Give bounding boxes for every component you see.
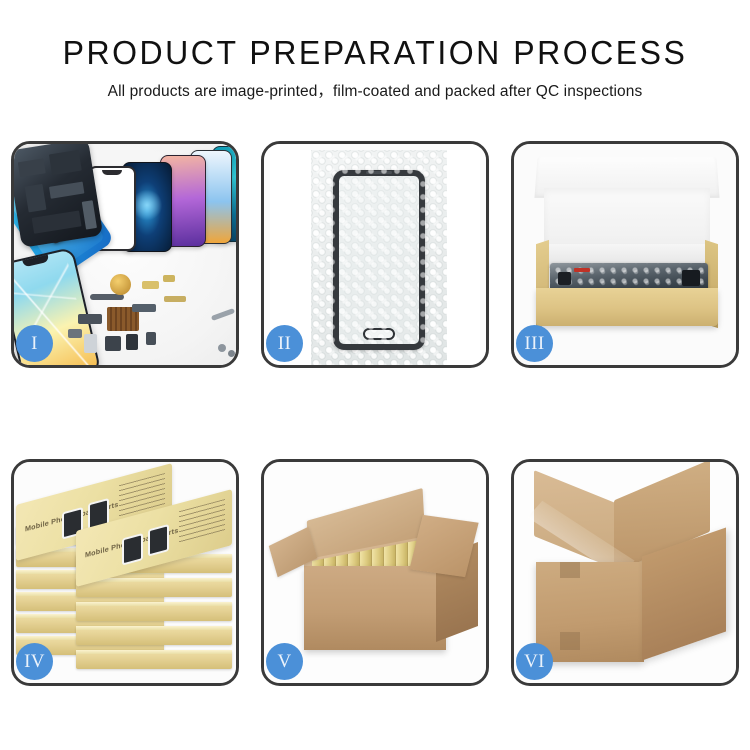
process-step-panel-1: I <box>11 141 239 368</box>
box-product-photo <box>122 533 143 566</box>
page-subtitle: All products are image-printed，film-coat… <box>0 82 750 102</box>
page-title: PRODUCT PREPARATION PROCESS <box>11 34 739 72</box>
button-flex-part <box>78 314 102 324</box>
process-step-panel-2: II <box>261 141 489 368</box>
carton-seam-lower <box>560 632 580 650</box>
box-front-panel <box>536 288 718 326</box>
ribbon-cable-part <box>132 304 156 312</box>
step-badge-4: IV <box>16 643 53 680</box>
speaker-part <box>105 336 121 351</box>
screw-part-b <box>228 350 235 357</box>
motherboard-part <box>14 144 103 248</box>
bracket-part <box>68 329 82 338</box>
camera-module-part <box>126 334 138 350</box>
carton-seam-upper <box>560 562 580 578</box>
step-badge-6: VI <box>516 643 553 680</box>
carton-front-face <box>536 562 644 662</box>
step-badge-5: V <box>266 643 303 680</box>
retail-box-edge <box>76 602 232 621</box>
process-step-panel-5: V <box>261 459 489 686</box>
sim-tray-part <box>84 334 97 353</box>
header: PRODUCT PREPARATION PROCESS All products… <box>0 0 750 102</box>
retail-box-edge <box>76 626 232 645</box>
gold-contact-part <box>164 296 186 302</box>
step-badge-3: III <box>516 325 553 362</box>
phone-glass-screen <box>333 170 425 350</box>
vibrator-part <box>146 332 156 345</box>
gold-coil-part <box>110 274 131 295</box>
box-spec-lines <box>179 499 225 543</box>
screw-part-a <box>218 344 226 352</box>
carton-front-panel <box>304 566 446 650</box>
step-badge-1: I <box>16 325 53 362</box>
process-steps-grid: I II <box>11 141 739 686</box>
small-chip-part <box>163 275 175 282</box>
process-step-panel-3: III <box>511 141 739 368</box>
product-preparation-infographic: PRODUCT PREPARATION PROCESS All products… <box>0 0 750 750</box>
step-badge-2: II <box>266 325 303 362</box>
bubble-wrap-sheet <box>311 150 447 365</box>
process-step-panel-4: Mobile Phone Spare Parts Mobile Phone Sp… <box>11 459 239 686</box>
process-step-panel-6: VI <box>511 459 739 686</box>
box-product-photo <box>148 524 169 557</box>
retail-box-edge <box>76 578 232 597</box>
retail-box-edge <box>76 650 232 669</box>
small-connector-part <box>142 281 159 289</box>
